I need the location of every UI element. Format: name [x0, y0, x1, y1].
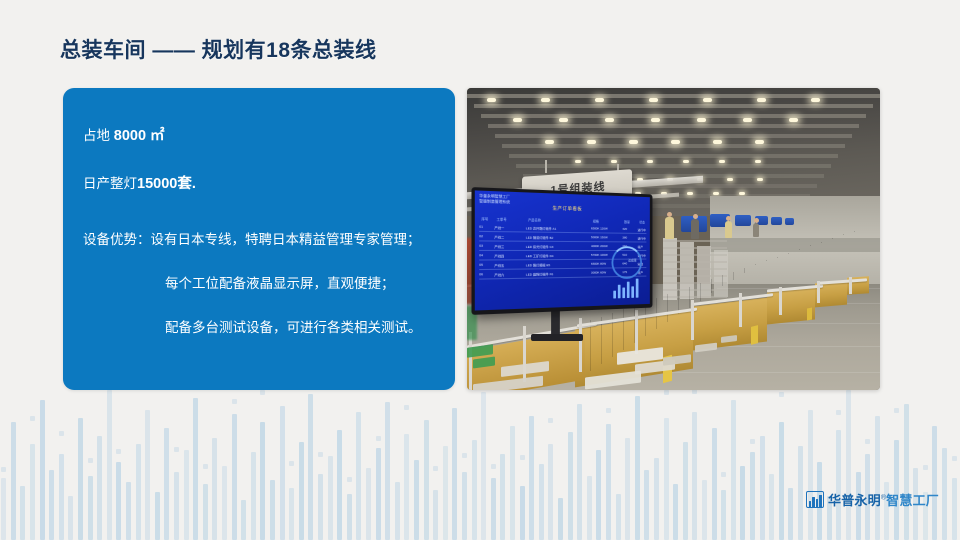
monitor-table-cell: 6500K 120W	[591, 226, 608, 230]
photo-ceiling-light	[541, 98, 550, 102]
equalizer-bar	[712, 428, 717, 540]
photo-parts-bin	[771, 217, 782, 225]
equalizer-bar-segment	[260, 390, 265, 395]
photo-worker	[665, 217, 674, 239]
photo-workbench-groove	[854, 230, 855, 231]
equalizer-bar-segment	[894, 408, 899, 413]
photo-workbench-groove	[744, 268, 745, 273]
monitor-table-cell: 进行中	[638, 227, 646, 232]
photo-ceiling-light	[757, 98, 766, 102]
monitor-table-cell: 03	[479, 244, 483, 248]
monitor-table-cell: 05	[479, 263, 483, 267]
equalizer-bar	[692, 412, 697, 540]
photo-ceiling-light	[719, 160, 725, 163]
equalizer-bar	[251, 452, 256, 540]
photo-floor-stripe	[751, 325, 758, 345]
panel-line-advantage-3: 配备多台测试设备，可进行各类相关测试。	[165, 318, 422, 338]
equalizer-bar	[337, 430, 342, 540]
photo-worker-head	[667, 212, 672, 217]
monitor-screen: 华普永明智慧工厂 智能制造管理系统 生产订单看板 序号工单号产品名称规格数量状态…	[475, 190, 650, 310]
equalizer-bar-segment	[836, 410, 841, 415]
monitor-table-cell: LED 隧道灯组件 B2	[526, 235, 553, 240]
equalizer-bar	[846, 390, 851, 540]
equalizer-bar	[424, 420, 429, 540]
equalizer-bar	[788, 488, 793, 540]
equalizer-bar-segment	[520, 455, 525, 460]
equalizer-bar-segment	[721, 472, 726, 477]
logo-text: 华普永明®智慧工厂	[828, 490, 939, 509]
photo-ceiling-light	[739, 192, 745, 195]
monitor-column-header: 状态	[639, 220, 645, 225]
monitor-table-cell: 待产	[638, 244, 643, 249]
monitor-title: 生产订单看板	[475, 203, 650, 214]
equalizer-bar	[356, 412, 361, 540]
photo-ceiling-truss	[495, 134, 852, 138]
photo-worker-head	[693, 214, 698, 219]
equalizer-bar-segment	[30, 416, 35, 421]
photo-ceiling-light	[703, 98, 712, 102]
photo-workbench-groove	[590, 320, 591, 371]
photo-rail-post	[779, 287, 782, 315]
equalizer-bar	[596, 450, 601, 540]
equalizer-bar-segment	[174, 447, 179, 452]
photo-ceiling-truss	[516, 164, 831, 168]
photo-workbench-groove	[667, 294, 668, 322]
equalizer-bar-segment	[88, 458, 93, 463]
photo-rail-post	[635, 310, 638, 354]
equalizer-bar	[232, 414, 237, 540]
equalizer-bar	[510, 426, 515, 540]
monitor-chart-bar	[618, 285, 621, 298]
equalizer-bar	[606, 424, 611, 540]
equalizer-bar-segment	[59, 431, 64, 436]
monitor-table-cell: 3000K 60W	[591, 270, 606, 274]
equalizer-bar	[932, 426, 937, 540]
photo-ceiling-light	[727, 178, 733, 181]
equalizer-bar	[241, 500, 246, 540]
photo-sign-rod	[545, 160, 547, 173]
equalizer-bar	[49, 470, 54, 540]
panel-line-area-lead: 占地	[83, 128, 114, 143]
page-title: 总装车间 —— 规划有18条总装线	[60, 34, 377, 64]
equalizer-bar	[558, 498, 563, 540]
monitor-base	[531, 334, 583, 341]
monitor-row-divider	[479, 231, 646, 234]
photo-workbench-groove	[623, 309, 624, 350]
equalizer-bar-segment	[664, 390, 669, 395]
equalizer-bar-segment	[433, 466, 438, 471]
photo-ceiling-light	[559, 118, 568, 122]
equalizer-bar	[616, 494, 621, 540]
photo-ceiling-truss	[488, 124, 859, 128]
equalizer-bar	[20, 486, 25, 540]
equalizer-bar	[942, 448, 947, 540]
monitor-chart-bar	[622, 288, 625, 298]
equalizer-bar	[280, 406, 285, 540]
equalizer-bar	[875, 416, 880, 540]
equalizer-bar	[376, 448, 381, 540]
photo-wall-band	[710, 238, 880, 252]
photo-ceiling-light	[647, 160, 653, 163]
equalizer-bar	[683, 442, 688, 540]
monitor-table-cell: 5700K 100W	[591, 253, 608, 257]
monitor-table-cell: LED 高杆路灯组件 A1	[526, 225, 556, 231]
equalizer-bar	[577, 404, 582, 540]
photo-ceiling-light	[649, 98, 658, 102]
equalizer-bar-segment	[376, 436, 381, 441]
equalizer-bar	[40, 400, 45, 540]
photo-rail-post	[469, 332, 472, 390]
monitor-table-cell: 产线一	[494, 225, 504, 230]
equalizer-bar	[347, 494, 352, 540]
monitor-table-cell: 5000K 150W	[591, 235, 608, 239]
monitor-table-cell: 06	[479, 272, 483, 276]
equalizer-bar	[193, 398, 198, 540]
equalizer-bar	[654, 458, 659, 540]
photo-rail-post	[739, 293, 742, 327]
equalizer-bar	[78, 418, 83, 540]
photo-ceiling-light	[683, 160, 689, 163]
equalizer-bar	[731, 400, 736, 540]
logo-suffix: 智慧工厂	[886, 493, 939, 508]
photo-worker-head	[754, 218, 759, 223]
equalizer-bar	[222, 466, 227, 540]
monitor-chart-bar	[636, 279, 639, 298]
equalizer-bar-segment	[491, 464, 496, 469]
equalizer-bar	[702, 480, 707, 540]
monitor-chart-bar	[613, 290, 616, 298]
photo-floor-stripe	[807, 307, 812, 320]
equalizer-bar	[481, 392, 486, 540]
equalizer-bar	[68, 496, 73, 540]
photo-parts-bin	[735, 215, 751, 226]
monitor-table-cell: 产线六	[494, 272, 504, 277]
photo-ceiling-truss	[481, 114, 866, 118]
monitor-column-header: 工单号	[497, 216, 507, 221]
photo-ceiling-light	[611, 160, 617, 163]
equalizer-bar	[414, 460, 419, 540]
photo-rack-shelf	[663, 275, 727, 277]
monitor-chart-bar	[627, 281, 630, 298]
monitor-table-cell: LED 工矿灯组件 D4	[526, 253, 553, 258]
monitor-column-header: 数量	[624, 219, 630, 224]
photo-workbench-groove	[788, 253, 789, 254]
panel-line-area: 占地 8000 ㎡	[83, 126, 165, 147]
equalizer-bar	[750, 452, 755, 540]
equalizer-bar	[30, 444, 35, 540]
equalizer-bar-segment	[1, 467, 6, 472]
panel-line-area-value: 8000 ㎡	[114, 128, 165, 144]
equalizer-bar	[404, 434, 409, 540]
photo-rack-shelf	[663, 240, 727, 242]
equalizer-bar	[635, 396, 640, 540]
equalizer-bar	[952, 478, 957, 540]
photo-rail-post	[849, 277, 852, 294]
photo-workbench-groove	[821, 242, 822, 243]
monitor-table-cell: 产线二	[494, 234, 504, 239]
equalizer-bar	[740, 466, 745, 540]
photo-ceiling-light	[755, 160, 761, 163]
photo-ceiling-truss	[474, 104, 873, 108]
equalizer-bar	[452, 408, 457, 540]
equalizer-bar	[126, 482, 131, 540]
photo-ceiling-truss	[509, 154, 838, 158]
equalizer-bar	[491, 478, 496, 540]
equalizer-bar	[155, 492, 160, 540]
photo-parts-bin	[785, 218, 794, 225]
equalizer-bar	[116, 462, 121, 540]
equalizer-bar	[443, 446, 448, 540]
photo-ceiling-light	[545, 140, 554, 144]
equalizer-bar	[270, 480, 275, 540]
panel-line-output-value: 15000	[137, 176, 177, 192]
equalizer-bar	[500, 454, 505, 540]
equalizer-bar-segment	[232, 399, 237, 404]
photo-ceiling-light	[595, 98, 604, 102]
equalizer-bar	[529, 416, 534, 540]
monitor-table-cell: 产线四	[494, 253, 504, 258]
equalizer-bar	[260, 422, 265, 540]
production-monitor: 华普永明智慧工厂 智能制造管理系统 生产订单看板 序号工单号产品名称规格数量状态…	[471, 187, 652, 315]
photo-ceiling-light	[629, 140, 638, 144]
photo-workbench-groove	[777, 257, 778, 258]
monitor-table-cell: 380	[622, 236, 627, 240]
equalizer-bar	[366, 468, 371, 540]
photo-ceiling-light	[651, 118, 660, 122]
panel-line-advantage-2: 每个工位配备液晶显示屏，直观便捷；	[165, 274, 395, 294]
monitor-row-divider	[479, 240, 646, 242]
equalizer-bar	[587, 476, 592, 540]
equalizer-bar-segment	[548, 418, 553, 423]
monitor-table-cell: 04	[479, 253, 483, 257]
equalizer-bar-segment	[923, 465, 928, 470]
equalizer-bar	[59, 454, 64, 540]
photo-rack-shelf	[663, 296, 727, 298]
monitor-column-header: 产品名称	[528, 217, 541, 222]
equalizer-bar	[548, 444, 553, 540]
equalizer-bar-segment	[404, 405, 409, 410]
monitor-chart-bar	[631, 286, 634, 298]
equalizer-bar	[539, 464, 544, 540]
photo-workbench-groove	[733, 272, 734, 280]
monitor-table-cell: 02	[479, 234, 483, 238]
equalizer-bar	[11, 422, 16, 540]
equalizer-bar	[136, 444, 141, 540]
monitor-table-cell: 01	[479, 225, 483, 229]
photo-ceiling-light	[575, 160, 581, 163]
photo-rack-shelf	[663, 247, 727, 249]
equalizer-bar	[395, 482, 400, 540]
equalizer-bar	[212, 438, 217, 540]
monitor-column-headers: 序号工单号产品名称规格数量状态	[479, 216, 646, 224]
equalizer-bar	[644, 470, 649, 540]
equalizer-bar	[779, 422, 784, 540]
equalizer-bar	[760, 436, 765, 540]
photo-rail-post	[691, 300, 694, 340]
photo-workbench-groove	[722, 275, 723, 286]
photo-ceiling-light	[587, 140, 596, 144]
equalizer-bar	[721, 490, 726, 540]
equalizer-bar	[664, 418, 669, 540]
photo-rack-shelf	[663, 254, 727, 256]
factory-photo: 1号组装线 Assembly Line 01 华普永明智慧工厂 智能制造管理系统…	[467, 88, 880, 390]
equalizer-bar	[145, 410, 150, 540]
equalizer-bar	[328, 456, 333, 540]
photo-ceiling-light	[757, 178, 763, 181]
panel-line-advantage-1: 设备优势：设有日本专线，特聘日本精益管理专家管理；	[83, 230, 421, 250]
logo-brand: 华普永明	[828, 493, 881, 508]
equalizer-bar-segment	[606, 408, 611, 413]
equalizer-bar	[836, 430, 841, 540]
logo-mark-icon	[806, 491, 824, 508]
equalizer-bar-segment	[779, 392, 784, 397]
equalizer-bar	[769, 474, 774, 540]
equalizer-bar-segment	[318, 452, 323, 457]
monitor-table-cell: 产线五	[494, 262, 504, 267]
photo-ceiling-light	[713, 192, 719, 195]
monitor-gauge-label: 达成率	[628, 258, 637, 263]
photo-workbench-groove	[832, 238, 833, 239]
panel-line-output-tail: 套.	[177, 176, 196, 192]
photo-rail-post	[817, 281, 820, 303]
equalizer-bar	[808, 410, 813, 540]
photo-rack-shelf	[663, 268, 727, 270]
equalizer-bar	[164, 428, 169, 540]
equalizer-bar	[203, 484, 208, 540]
equalizer-bar-segment	[952, 456, 957, 461]
photo-ceiling-light	[513, 118, 522, 122]
decorative-equalizer-bars	[0, 388, 960, 540]
photo-ceiling-light	[487, 98, 496, 102]
equalizer-bar	[798, 446, 803, 540]
photo-workbench-groove	[700, 283, 701, 301]
equalizer-bar	[904, 404, 909, 540]
photo-worker	[725, 221, 732, 238]
equalizer-bar-segment	[347, 477, 352, 482]
equalizer-bar-segment	[203, 464, 208, 469]
equalizer-bar	[88, 476, 93, 540]
monitor-table-cell: 产线三	[494, 244, 504, 249]
equalizer-bar-segment	[865, 439, 870, 444]
photo-worker-head	[726, 216, 731, 221]
monitor-table-cell: 6500K 80W	[591, 262, 606, 266]
photo-worker	[753, 223, 759, 237]
photo-workbench-groove	[689, 287, 690, 308]
photo-ceiling-light	[687, 192, 693, 195]
monitor-column-header: 序号	[481, 216, 488, 221]
photo-ceiling-light	[713, 140, 722, 144]
equalizer-bar	[673, 484, 678, 540]
equalizer-bar	[174, 472, 179, 540]
panel-line-output: 日产整灯15000套.	[83, 174, 196, 195]
photo-rack-shelf	[663, 282, 727, 284]
brand-logo: 华普永明®智慧工厂	[806, 489, 939, 509]
equalizer-bar	[97, 436, 102, 540]
photo-ceiling-light	[697, 118, 706, 122]
equalizer-bar	[433, 490, 438, 540]
monitor-stand	[551, 310, 560, 336]
equalizer-bar	[184, 450, 189, 540]
equalizer-bar	[107, 390, 112, 540]
slide-root: 总装车间 —— 规划有18条总装线 占地 8000 ㎡ 日产整灯15000套. …	[0, 0, 960, 540]
monitor-column-header: 规格	[593, 219, 599, 224]
photo-ceiling-light	[811, 98, 820, 102]
photo-ceiling-light	[789, 118, 798, 122]
monitor-table-cell: 进行中	[638, 236, 646, 241]
photo-workbench-groove	[711, 279, 712, 294]
monitor-table-cell: LED 投光灯组件 C3	[526, 244, 553, 249]
equalizer-bar	[462, 472, 467, 540]
equalizer-bar	[299, 442, 304, 540]
photo-rail-post	[579, 318, 582, 372]
equalizer-bar	[289, 488, 294, 540]
equalizer-bar	[568, 432, 573, 540]
monitor-table-cell: LED 路灯模组 E5	[526, 262, 550, 267]
equalizer-bar	[625, 438, 630, 540]
equalizer-bar	[472, 440, 477, 540]
equalizer-bar-segment	[289, 461, 294, 466]
equalizer-bar	[385, 402, 390, 540]
photo-ceiling-truss	[502, 144, 845, 148]
photo-ceiling-light	[605, 118, 614, 122]
monitor-table-cell: 420	[622, 227, 627, 231]
info-panel: 占地 8000 ㎡ 日产整灯15000套. 设备优势：设有日本专线，特聘日本精益…	[63, 88, 455, 390]
photo-ceiling-light	[743, 118, 752, 122]
photo-ceiling-light	[671, 140, 680, 144]
panel-line-output-lead: 日产整灯	[83, 176, 137, 191]
equalizer-bar	[1, 478, 6, 540]
photo-rack-shelf	[663, 261, 727, 263]
photo-worker	[691, 219, 699, 239]
equalizer-bar	[520, 486, 525, 540]
photo-ceiling-light	[755, 140, 764, 144]
equalizer-bar	[308, 394, 313, 540]
monitor-table-cell: LED 庭院灯组件 F6	[526, 271, 553, 277]
equalizer-bar-segment	[116, 449, 121, 454]
equalizer-bar-segment	[462, 453, 467, 458]
equalizer-bar	[318, 474, 323, 540]
monitor-table-cell: 4000K 200W	[591, 244, 608, 248]
photo-rack-shelf	[663, 289, 727, 291]
equalizer-bar-segment	[750, 439, 755, 444]
